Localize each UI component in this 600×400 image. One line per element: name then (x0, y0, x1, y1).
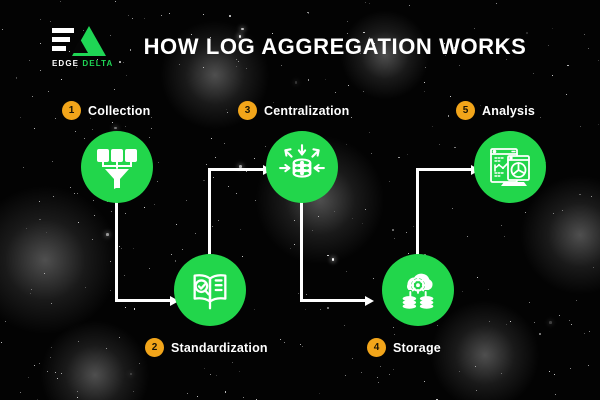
connector-4-to-5-horizontal (416, 168, 474, 171)
step-2-number-badge: 2 (145, 338, 164, 357)
step-5-label: Analysis (482, 104, 535, 118)
logo-mark-icon (52, 26, 108, 56)
book-check-icon (187, 267, 233, 313)
step-4-circle[interactable] (382, 254, 454, 326)
database-inward-arrows-icon (277, 142, 327, 192)
connector-3-to-4-vertical (300, 190, 303, 302)
step-5-label-row: 5 Analysis (456, 101, 535, 120)
step-3-label-row: 3 Centralization (238, 101, 349, 120)
edge-delta-logo: EDGE DELTA (52, 26, 114, 72)
step-2-label: Standardization (171, 341, 268, 355)
step-5-number-badge: 5 (456, 101, 475, 120)
step-1-label-row: 1 Collection (62, 101, 150, 120)
step-2-circle[interactable] (174, 254, 246, 326)
step-4-label: Storage (393, 341, 441, 355)
dashboard-charts-icon (486, 143, 534, 191)
connector-1-to-2-horizontal (115, 299, 173, 302)
funnel-documents-icon (93, 143, 141, 191)
step-1-number-badge: 1 (62, 101, 81, 120)
step-2-label-row: 2 Standardization (145, 338, 268, 357)
connector-2-to-3-horizontal (208, 168, 266, 171)
connector-3-to-4-arrowhead (365, 296, 374, 306)
step-1-circle[interactable] (81, 131, 153, 203)
cloud-gear-database-icon (395, 267, 441, 313)
step-4-number-badge: 4 (367, 338, 386, 357)
step-4-label-row: 4 Storage (367, 338, 441, 357)
infographic-canvas: EDGE DELTA HOW LOG AGGREGATION WORKS 1 C… (0, 0, 600, 400)
step-3-circle[interactable] (266, 131, 338, 203)
page-title: HOW LOG AGGREGATION WORKS (125, 34, 545, 60)
connector-1-to-2-vertical (115, 190, 118, 302)
connector-3-to-4-horizontal (300, 299, 368, 302)
logo-wordmark: EDGE DELTA (52, 59, 113, 68)
logo-word-delta: DELTA (82, 59, 113, 68)
step-5-circle[interactable] (474, 131, 546, 203)
step-3-label: Centralization (264, 104, 349, 118)
logo-word-edge: EDGE (52, 59, 79, 68)
step-3-number-badge: 3 (238, 101, 257, 120)
step-1-label: Collection (88, 104, 150, 118)
